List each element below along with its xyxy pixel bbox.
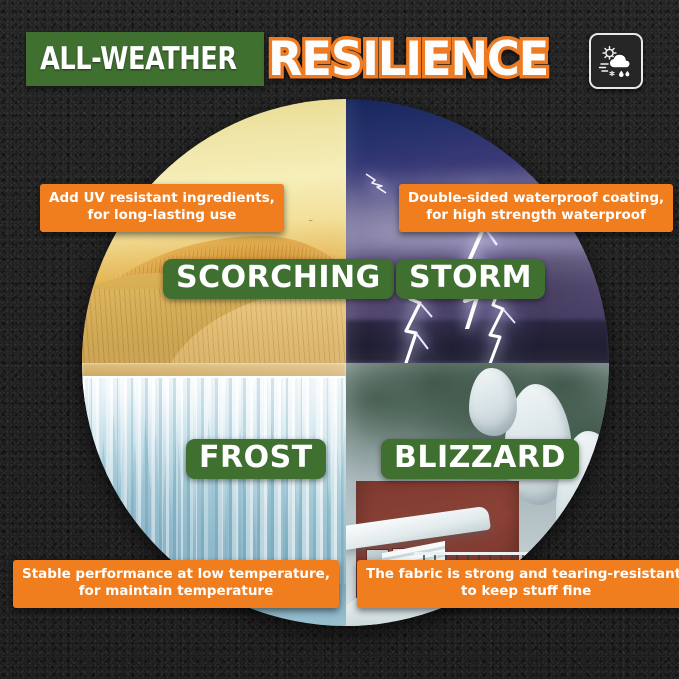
- caption-storm: Double-sided waterproof coating, for hig…: [399, 184, 673, 232]
- cabin-snow-roof: [346, 506, 491, 551]
- caption-storm-line1: Double-sided waterproof coating,: [408, 190, 664, 207]
- weather-badge: [589, 33, 643, 89]
- caption-frost: Stable performance at low temperature, f…: [13, 560, 339, 608]
- caption-blizzard-line1: The fabric is strong and tearing-resista…: [366, 566, 679, 583]
- label-storm-text: STORM: [409, 262, 532, 294]
- title-secondary-block: RESILIENCE: [262, 32, 569, 86]
- caption-blizzard: The fabric is strong and tearing-resista…: [357, 560, 679, 608]
- bird-icon: ~: [309, 218, 313, 225]
- label-scorching-text: SCORCHING: [176, 262, 381, 294]
- sand-ripples-near: [82, 289, 346, 363]
- label-scorching: SCORCHING: [163, 259, 394, 299]
- title-resilience: RESILIENCE: [268, 32, 548, 87]
- sun-cloud-snow-rain-wind-icon: [597, 42, 635, 80]
- poster-canvas: ALL-WEATHER RESILIENCE: [0, 0, 679, 679]
- caption-storm-line2: for high strength waterproof: [408, 207, 664, 224]
- caption-scorching: Add UV resistant ingredients, for long-l…: [40, 184, 284, 232]
- caption-frost-line2: for maintain temperature: [22, 583, 330, 600]
- caption-blizzard-line2: to keep stuff fine: [366, 583, 679, 600]
- caption-scorching-line2: for long-lasting use: [49, 207, 275, 224]
- label-frost: FROST: [186, 439, 326, 479]
- label-blizzard-text: BLIZZARD: [394, 442, 566, 474]
- title-primary-block: ALL-WEATHER: [26, 32, 264, 86]
- header: ALL-WEATHER RESILIENCE: [0, 29, 679, 89]
- page-title: ALL-WEATHER RESILIENCE: [26, 32, 569, 86]
- label-blizzard: BLIZZARD: [381, 439, 579, 479]
- weather-collage-circle: ~ ~: [82, 99, 609, 626]
- title-all-weather: ALL-WEATHER: [40, 41, 237, 77]
- label-storm: STORM: [396, 259, 545, 299]
- label-frost-text: FROST: [199, 442, 313, 474]
- lightning-bolt-icon: [364, 170, 400, 204]
- caption-frost-line1: Stable performance at low temperature,: [22, 566, 330, 583]
- caption-scorching-line1: Add UV resistant ingredients,: [49, 190, 275, 207]
